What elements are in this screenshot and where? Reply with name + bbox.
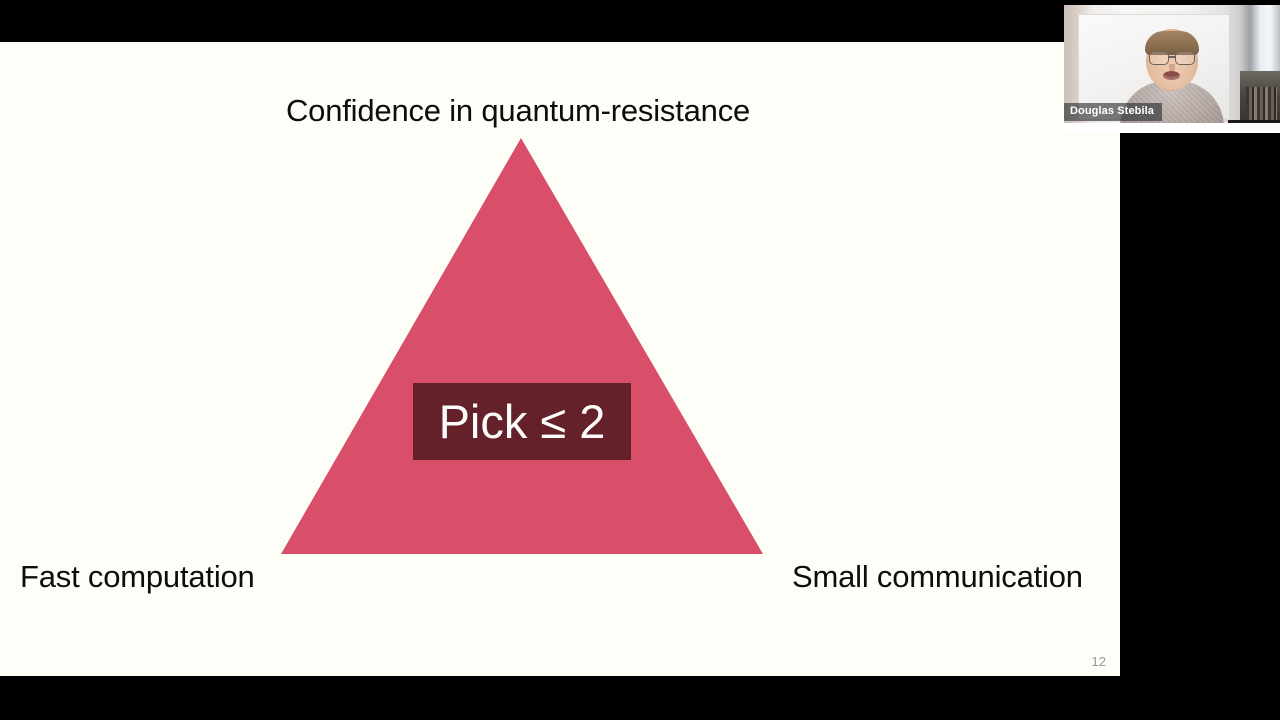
webcam-bottom-strip <box>1064 123 1280 133</box>
slide-number: 12 <box>1092 654 1106 669</box>
triangle-label-bottom-left: Fast computation <box>20 560 255 594</box>
presentation-slide: Confidence in quantum-resistance Fast co… <box>0 42 1120 676</box>
glasses-bridge <box>1168 56 1176 58</box>
triangle-label-top: Confidence in quantum-resistance <box>286 94 750 128</box>
triangle-shape <box>281 138 763 554</box>
triangle-label-bottom-right: Small communication <box>792 560 1083 594</box>
center-callout-box: Pick ≤ 2 <box>413 383 631 460</box>
speaker-mouth <box>1163 71 1180 80</box>
glasses-lens-left <box>1149 51 1169 65</box>
center-callout-text: Pick ≤ 2 <box>439 398 606 445</box>
participant-name-label: Douglas Stebila <box>1064 103 1162 121</box>
glasses-icon <box>1148 51 1196 63</box>
webcam-overlay[interactable]: Douglas Stebila <box>1064 5 1280 133</box>
video-player-stage: Confidence in quantum-resistance Fast co… <box>0 0 1280 720</box>
glasses-lens-right <box>1175 51 1195 65</box>
